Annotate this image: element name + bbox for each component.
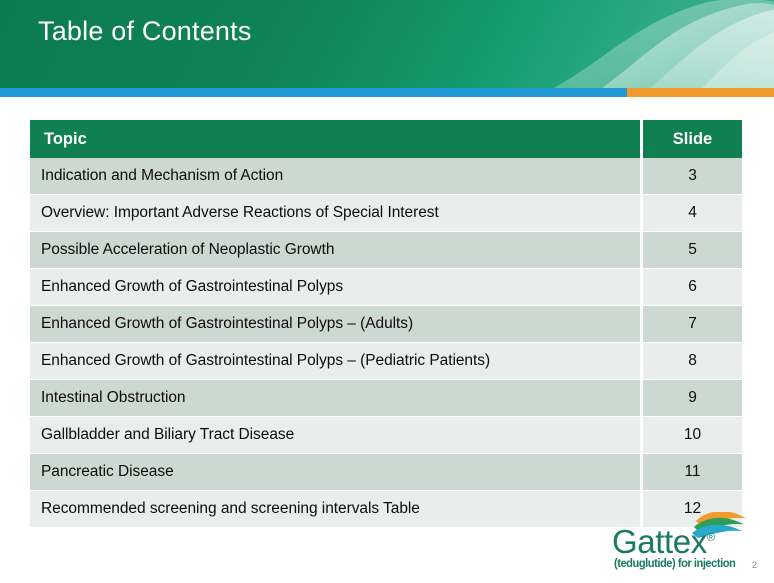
row-slide-number: 5 <box>640 232 742 269</box>
row-slide-number: 7 <box>640 306 742 343</box>
slide-page-number: 2 <box>752 560 757 570</box>
table-row[interactable]: Intestinal Obstruction 9 <box>30 380 742 417</box>
row-topic: Enhanced Growth of Gastrointestinal Poly… <box>30 343 640 380</box>
row-topic: Overview: Important Adverse Reactions of… <box>30 195 640 232</box>
row-slide-number: 3 <box>640 158 742 195</box>
row-topic: Possible Acceleration of Neoplastic Grow… <box>30 232 640 269</box>
row-slide-number: 4 <box>640 195 742 232</box>
row-topic: Pancreatic Disease <box>30 454 640 491</box>
toc-table: Topic Slide Indication and Mechanism of … <box>30 120 742 528</box>
registered-trademark-icon: ® <box>707 532 715 544</box>
row-topic: Indication and Mechanism of Action <box>30 158 640 195</box>
table-row[interactable]: Enhanced Growth of Gastrointestinal Poly… <box>30 269 742 306</box>
row-slide-number: 9 <box>640 380 742 417</box>
table-row[interactable]: Overview: Important Adverse Reactions of… <box>30 195 742 232</box>
row-topic: Gallbladder and Biliary Tract Disease <box>30 417 640 454</box>
table-header-row: Topic Slide <box>30 120 742 158</box>
table-row[interactable]: Possible Acceleration of Neoplastic Grow… <box>30 232 742 269</box>
table-row[interactable]: Enhanced Growth of Gastrointestinal Poly… <box>30 306 742 343</box>
toc-table-header: Topic Slide <box>30 120 742 158</box>
row-slide-number: 11 <box>640 454 742 491</box>
accent-rule-blue-segment <box>0 88 627 97</box>
gattex-wordmark: Gattex® <box>612 525 715 558</box>
column-header-slide: Slide <box>640 120 742 158</box>
table-row[interactable]: Enhanced Growth of Gastrointestinal Poly… <box>30 343 742 380</box>
gattex-tagline: (teduglutide) for injection <box>614 558 735 570</box>
row-topic: Enhanced Growth of Gastrointestinal Poly… <box>30 269 640 306</box>
toc-table-body: Indication and Mechanism of Action 3 Ove… <box>30 158 742 528</box>
page-title: Table of Contents <box>38 16 252 47</box>
row-slide-number: 6 <box>640 269 742 306</box>
toc-table-container: Topic Slide Indication and Mechanism of … <box>30 120 742 528</box>
banner-wave-decoration <box>434 0 774 88</box>
row-slide-number: 10 <box>640 417 742 454</box>
column-header-topic: Topic <box>30 120 640 158</box>
gattex-logo: Gattex® (teduglutide) for injection <box>608 512 748 572</box>
table-row[interactable]: Pancreatic Disease 11 <box>30 454 742 491</box>
accent-rule <box>0 88 774 97</box>
table-row[interactable]: Gallbladder and Biliary Tract Disease 10 <box>30 417 742 454</box>
row-slide-number: 8 <box>640 343 742 380</box>
gattex-wordmark-text: Gattex <box>612 523 707 560</box>
row-topic: Enhanced Growth of Gastrointestinal Poly… <box>30 306 640 343</box>
slide-header-banner: Table of Contents <box>0 0 774 88</box>
accent-rule-orange-segment <box>627 88 774 97</box>
row-topic: Recommended screening and screening inte… <box>30 491 640 528</box>
row-topic: Intestinal Obstruction <box>30 380 640 417</box>
table-row[interactable]: Indication and Mechanism of Action 3 <box>30 158 742 195</box>
